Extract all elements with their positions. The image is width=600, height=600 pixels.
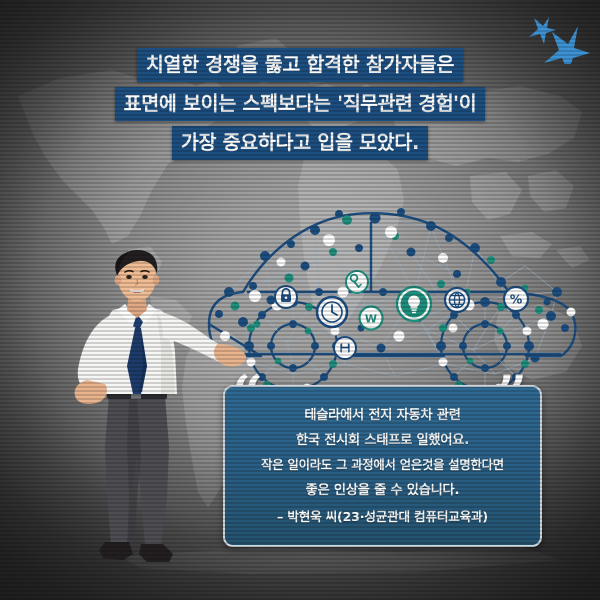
svg-text:W: W [365,313,377,326]
quote-line-2: 한국 전시회 스태프로 일했어요. [225,428,540,453]
globe-icon [445,288,469,312]
trousers [105,396,169,546]
quote-attribution: – 박현욱 씨(23·성균관대 컴퓨터교육과) [225,504,540,529]
quote-line-1: 테슬라에서 전지 자동차 관련 [225,403,540,428]
headline-line-2-post: '이 [453,92,476,115]
head [115,250,160,301]
svg-text:%: % [510,292,523,307]
headline-line-2: 표면에 보이는 스펙보다는 '직무관련 경험'이 [115,87,486,121]
key-icon [346,271,368,293]
quote-line-4: 좋은 인상을 줄 수 있습니다. [225,478,540,503]
bird-small-icon [529,17,556,44]
lightbulb-icon [397,287,431,321]
infographic-card: 치열한 경쟁을 뚫고 합격한 참가자들은 표면에 보이는 스펙보다는 '직무관련… [0,0,600,600]
headline: 치열한 경쟁을 뚫고 합격한 참가자들은 표면에 보이는 스펙보다는 '직무관련… [0,48,600,165]
lock-icon [275,286,297,308]
quote-line-3: 작은 일이라도 그 과정에서 얻은것을 설명한다면 [225,453,540,478]
shoes [99,542,173,562]
won-icon: W [360,307,383,330]
save-icon [334,337,356,359]
percent-icon: % [504,287,528,311]
businessman-illustration [57,248,247,568]
clock-icon [317,297,347,327]
headline-line-2-pre: 표면에 보이는 스펙보다는 ' [124,92,343,115]
headline-row-3: 가장 중요하다고 입을 모았다. [0,126,600,160]
headline-row-2: 표면에 보이는 스펙보다는 '직무관련 경험'이 [0,87,600,121]
headline-line-3: 가장 중요하다고 입을 모았다. [172,126,428,160]
headline-line-2-bold: 직무관련 경험 [343,92,453,115]
testimonial-quote-box: 테슬라에서 전지 자동차 관련 한국 전시회 스태프로 일했어요. 작은 일이라… [223,385,542,547]
headline-row-1: 치열한 경쟁을 뚫고 합격한 참가자들은 [0,48,600,82]
headline-line-1: 치열한 경쟁을 뚫고 합격한 참가자들은 [137,48,463,82]
